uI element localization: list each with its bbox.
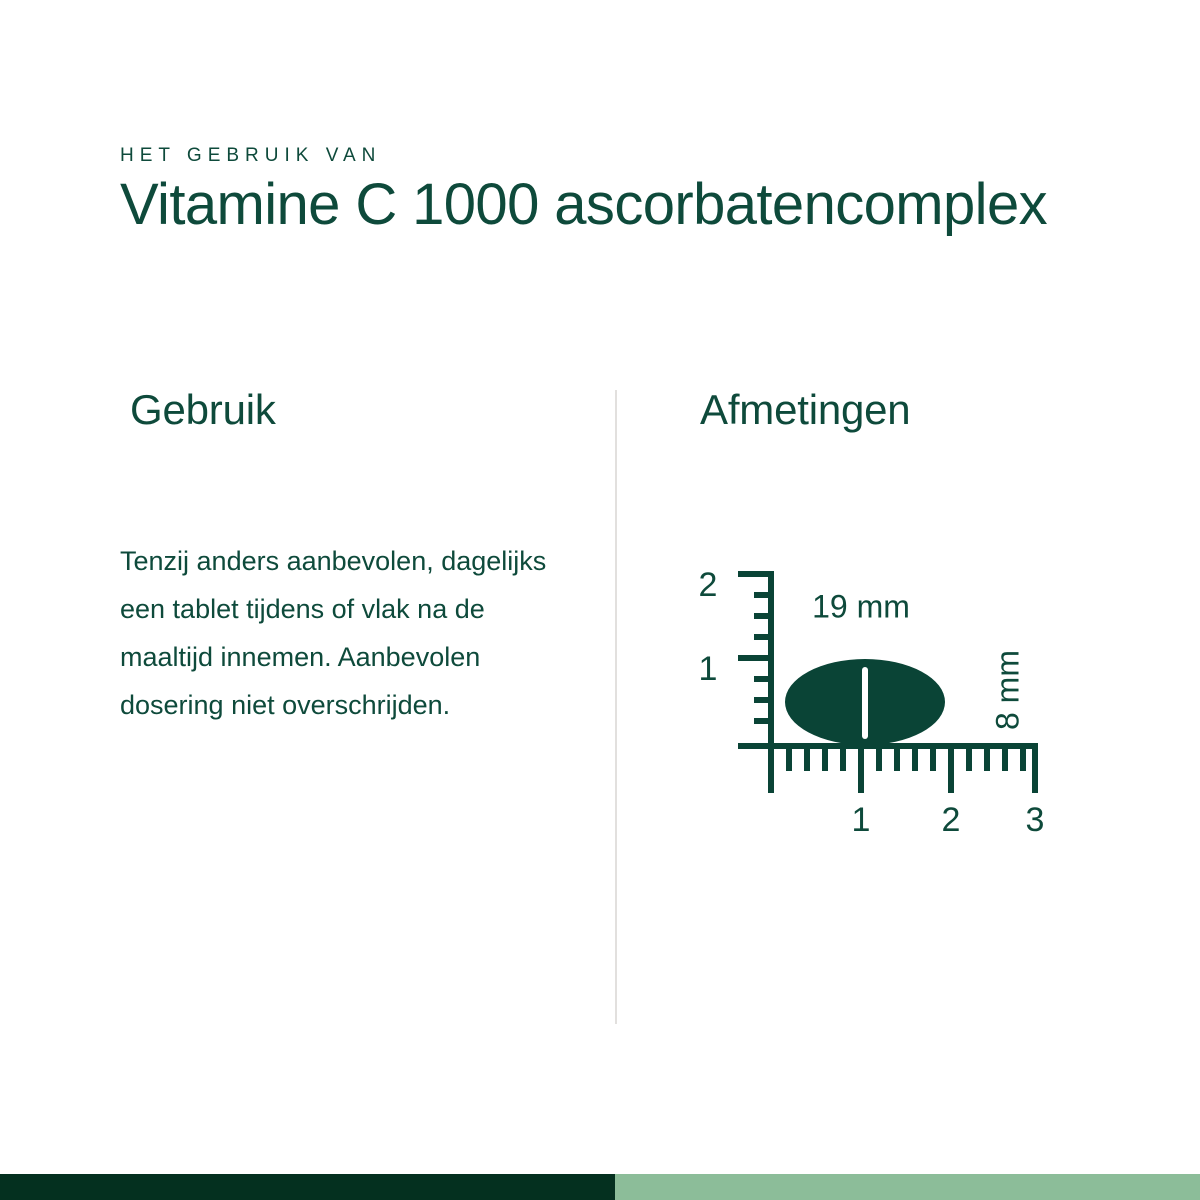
- horizontal-tick-major-2: [948, 743, 954, 793]
- horizontal-tick-minor: [912, 749, 918, 771]
- horizontal-tick-minor: [1002, 749, 1008, 771]
- horizontal-tick-minor: [930, 749, 936, 771]
- header: HET GEBRUIK VAN Vitamine C 1000 ascorbat…: [120, 146, 1186, 238]
- dimensions-section-title: Afmetingen: [700, 386, 1170, 434]
- ruler-diagram-svg: 2 1 19 mm 8 mm 1 2 3: [690, 545, 1070, 845]
- tablet-score-line: [862, 667, 868, 739]
- page-title: Vitamine C 1000 ascorbatencomplex: [120, 173, 1186, 238]
- tablet-width-label: 19 mm: [812, 588, 910, 624]
- vertical-tick-label-2: 2: [699, 566, 718, 604]
- horizontal-tick-origin: [768, 743, 774, 793]
- vertical-tick-major-1: [738, 655, 774, 661]
- vertical-tick-minor: [754, 697, 774, 703]
- horizontal-ruler-baseline: [738, 743, 1038, 749]
- eyebrow-label: HET GEBRUIK VAN: [120, 146, 1186, 167]
- horizontal-tick-minor: [1020, 749, 1026, 771]
- infographic-page: HET GEBRUIK VAN Vitamine C 1000 ascorbat…: [0, 0, 1200, 1200]
- vertical-tick-minor: [754, 613, 774, 619]
- vertical-tick-label-1: 1: [699, 650, 718, 688]
- vertical-tick-minor: [754, 592, 774, 598]
- tablet-height-label: 8 mm: [989, 650, 1025, 730]
- horizontal-tick-minor: [894, 749, 900, 771]
- footer-bar-light: [615, 1174, 1200, 1200]
- horizontal-tick-minor: [840, 749, 846, 771]
- horizontal-tick-minor: [786, 749, 792, 771]
- horizontal-tick-minor: [966, 749, 972, 771]
- footer-bar-dark: [0, 1174, 615, 1200]
- horizontal-tick-label-2: 2: [942, 801, 961, 839]
- horizontal-tick-label-3: 3: [1026, 801, 1045, 839]
- vertical-tick-minor: [754, 676, 774, 682]
- horizontal-tick-minor: [876, 749, 882, 771]
- vertical-tick-minor: [754, 634, 774, 640]
- horizontal-tick-minor: [984, 749, 990, 771]
- horizontal-tick-minor: [822, 749, 828, 771]
- vertical-tick-minor: [754, 718, 774, 724]
- horizontal-tick-major-1: [858, 743, 864, 793]
- column-divider: [615, 390, 617, 1024]
- footer-bars: [0, 1174, 1200, 1200]
- horizontal-tick-major-3: [1032, 743, 1038, 793]
- horizontal-tick-minor: [804, 749, 810, 771]
- horizontal-tick-label-1: 1: [852, 801, 871, 839]
- usage-column: Gebruik: [120, 386, 590, 434]
- vertical-tick-major-2: [738, 571, 774, 577]
- usage-section-title: Gebruik: [120, 386, 590, 434]
- dimensions-column: Afmetingen: [700, 386, 1170, 434]
- usage-body-text: Tenzij anders aanbevolen, dagelijks een …: [120, 537, 550, 729]
- tablet-dimensions-diagram: 2 1 19 mm 8 mm 1 2 3: [690, 545, 1070, 845]
